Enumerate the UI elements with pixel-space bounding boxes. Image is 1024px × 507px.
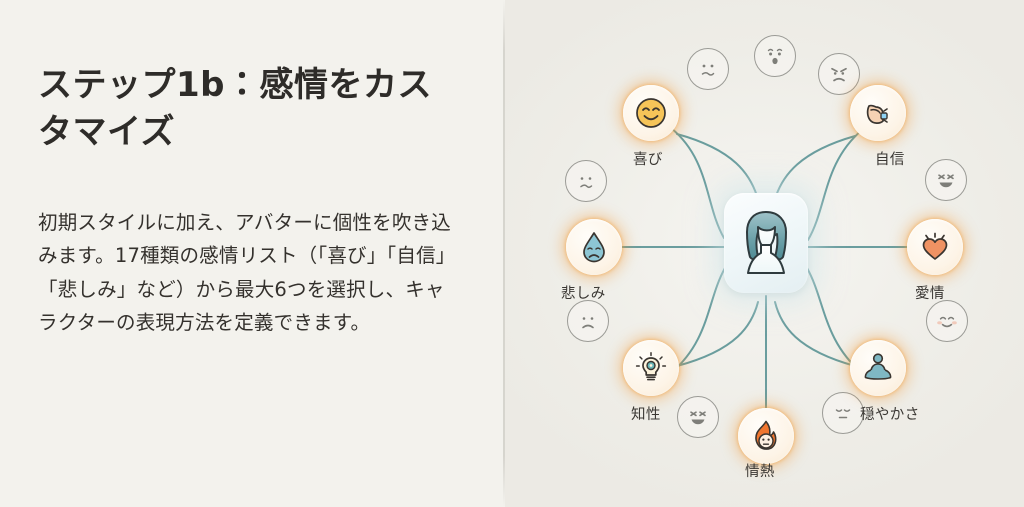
slide-root: ステップ1b：感情をカスタマイズ 初期スタイルに加え、アバターに個性を吹き込みま… <box>0 0 1024 507</box>
emotion-node-confidence[interactable] <box>850 85 906 141</box>
background-face-laughing-bottom <box>677 396 719 438</box>
flexed-biceps-icon <box>861 96 895 130</box>
background-face-angry <box>818 53 860 95</box>
background-face-laughing-right <box>925 159 967 201</box>
background-face-relieved <box>822 392 864 434</box>
sad-teardrop-icon <box>577 230 611 264</box>
emotion-label-joy: 喜び <box>633 148 663 169</box>
background-face-surprised <box>754 35 796 77</box>
background-face-frowning <box>567 300 609 342</box>
surprised-face-icon <box>762 43 788 69</box>
avatar-card[interactable] <box>724 193 808 293</box>
diagram-panel: 喜び 自信 悲しみ <box>505 0 1024 507</box>
emotion-label-calmness: 穏やかさ <box>860 403 920 424</box>
flame-face-icon <box>749 419 783 453</box>
laughing-face-icon <box>685 404 711 430</box>
text-panel: ステップ1b：感情をカスタマイズ 初期スタイルに加え、アバターに個性を吹き込みま… <box>0 0 505 507</box>
background-face-blushing <box>926 300 968 342</box>
laughing-face-icon <box>933 167 959 193</box>
emotion-node-joy[interactable] <box>623 85 679 141</box>
female-avatar-icon <box>735 207 797 279</box>
emotion-label-sadness: 悲しみ <box>561 282 606 303</box>
page-body-text: 初期スタイルに加え、アバターに個性を吹き込みます。17種類の感情リスト（「喜び」… <box>38 206 459 340</box>
relieved-face-icon <box>830 400 856 426</box>
frowning-face-icon <box>575 308 601 334</box>
page-title: ステップ1b：感情をカスタマイズ <box>38 62 438 156</box>
blushing-smile-icon <box>934 308 960 334</box>
emotion-node-sadness[interactable] <box>566 219 622 275</box>
background-face-confused <box>687 48 729 90</box>
sparkling-heart-icon <box>918 230 952 264</box>
emotion-label-love: 愛情 <box>915 282 945 303</box>
confused-face-icon <box>695 56 721 82</box>
meditating-person-icon <box>861 351 895 385</box>
emotion-node-passion[interactable] <box>738 408 794 464</box>
lightbulb-gear-icon <box>634 351 668 385</box>
emotion-label-intelligence: 知性 <box>631 403 661 424</box>
smiling-face-icon <box>634 96 668 130</box>
background-face-unamused <box>565 160 607 202</box>
emotion-node-intelligence[interactable] <box>623 340 679 396</box>
emotion-node-calmness[interactable] <box>850 340 906 396</box>
unamused-face-icon <box>573 168 599 194</box>
emotion-label-confidence: 自信 <box>875 148 905 169</box>
emotion-label-passion: 情熱 <box>745 460 775 481</box>
angry-face-icon <box>826 61 852 87</box>
emotion-mindmap: 喜び 自信 悲しみ <box>505 0 1024 507</box>
emotion-node-love[interactable] <box>907 219 963 275</box>
